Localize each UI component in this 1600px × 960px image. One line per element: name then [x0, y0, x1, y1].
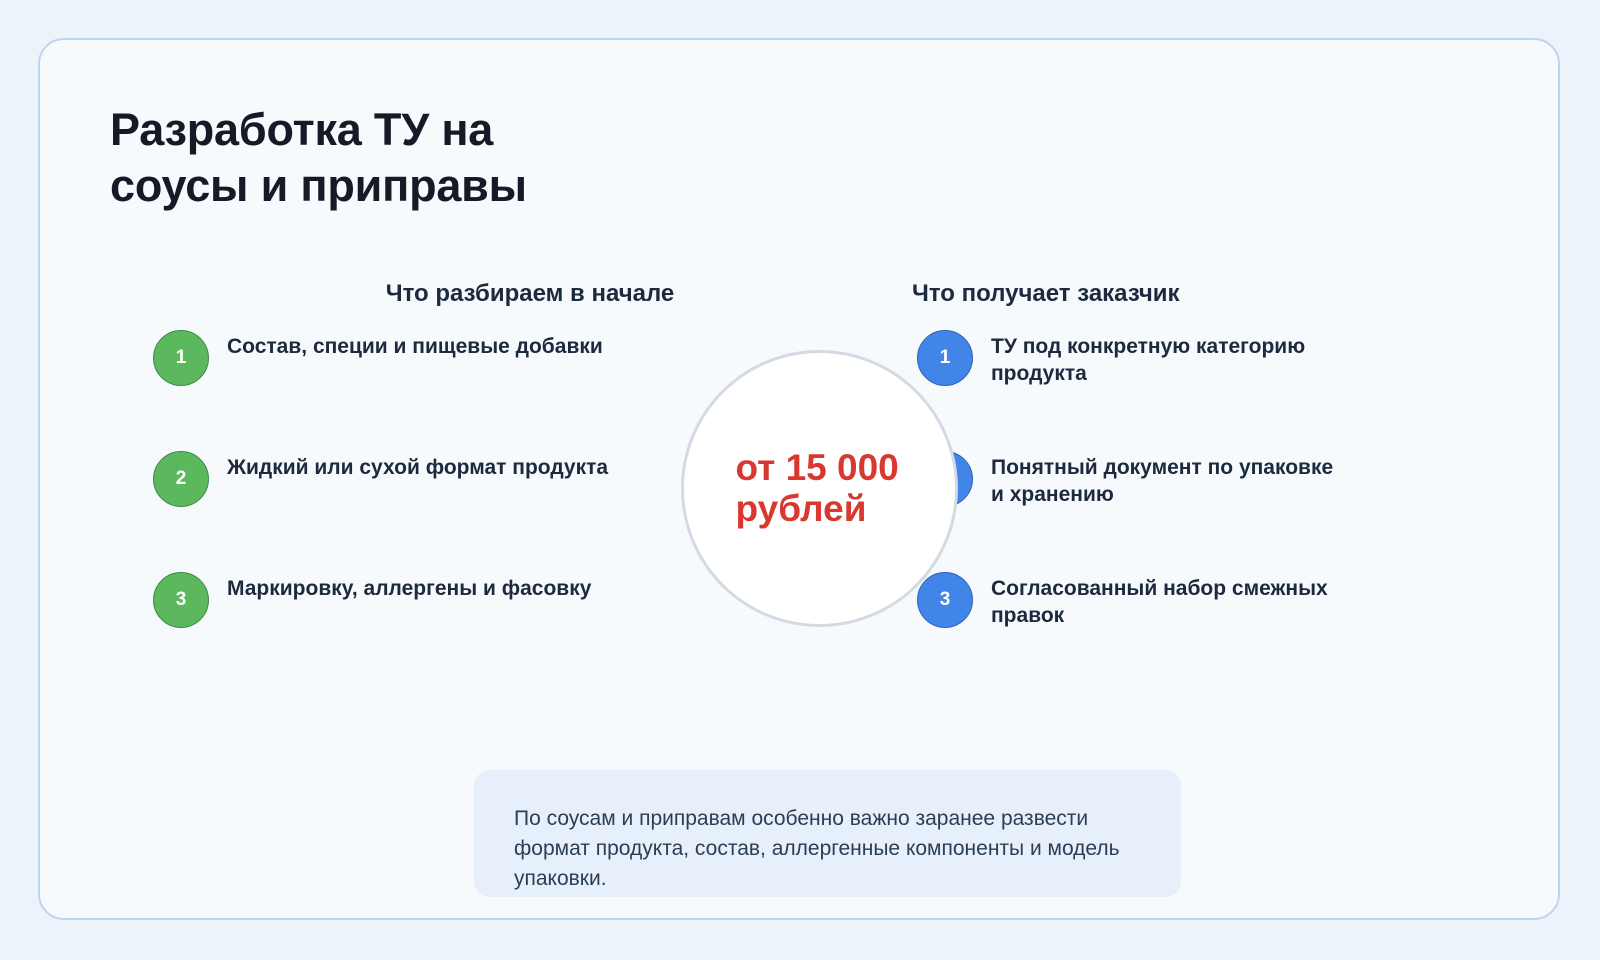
list-item-label: Жидкий или сухой формат продукта: [227, 451, 608, 482]
list-item-label: Маркировку, аллергены и фасовку: [227, 572, 591, 603]
page-title: Разработка ТУ на соусы и приправы: [110, 102, 1010, 215]
step-badge: 3: [153, 572, 209, 628]
list-item: 1 Состав, специи и пищевые добавки: [153, 330, 613, 386]
step-badge: 2: [153, 451, 209, 507]
list-item: 2 Понятный документ по упаковке и хранен…: [917, 451, 1337, 509]
list-item: 2 Жидкий или сухой формат продукта: [153, 451, 613, 507]
list-item-label: ТУ под конкретную категорию продукта: [991, 330, 1337, 388]
note-box: По соусам и приправам особенно важно зар…: [474, 770, 1181, 897]
main-card: Разработка ТУ на соусы и приправы Что ра…: [38, 38, 1560, 920]
step-badge: 3: [917, 572, 973, 628]
price-label: от 15 000 рублей: [736, 448, 916, 529]
price-circle: от 15 000 рублей: [681, 350, 958, 627]
note-text: По соусам и приправам особенно важно зар…: [514, 804, 1141, 893]
left-column-heading: Что разбираем в начале: [325, 280, 735, 308]
right-column-heading: Что получает заказчик: [912, 280, 1322, 308]
list-item-label: Состав, специи и пищевые добавки: [227, 330, 603, 361]
list-item: 3 Маркировку, аллергены и фасовку: [153, 572, 613, 628]
list-item-label: Согласованный набор смежных правок: [991, 572, 1337, 630]
list-item-label: Понятный документ по упаковке и хранению: [991, 451, 1337, 509]
step-badge: 1: [153, 330, 209, 386]
list-item: 1 ТУ под конкретную категорию продукта: [917, 330, 1337, 388]
list-item: 3 Согласованный набор смежных правок: [917, 572, 1337, 630]
step-badge: 1: [917, 330, 973, 386]
